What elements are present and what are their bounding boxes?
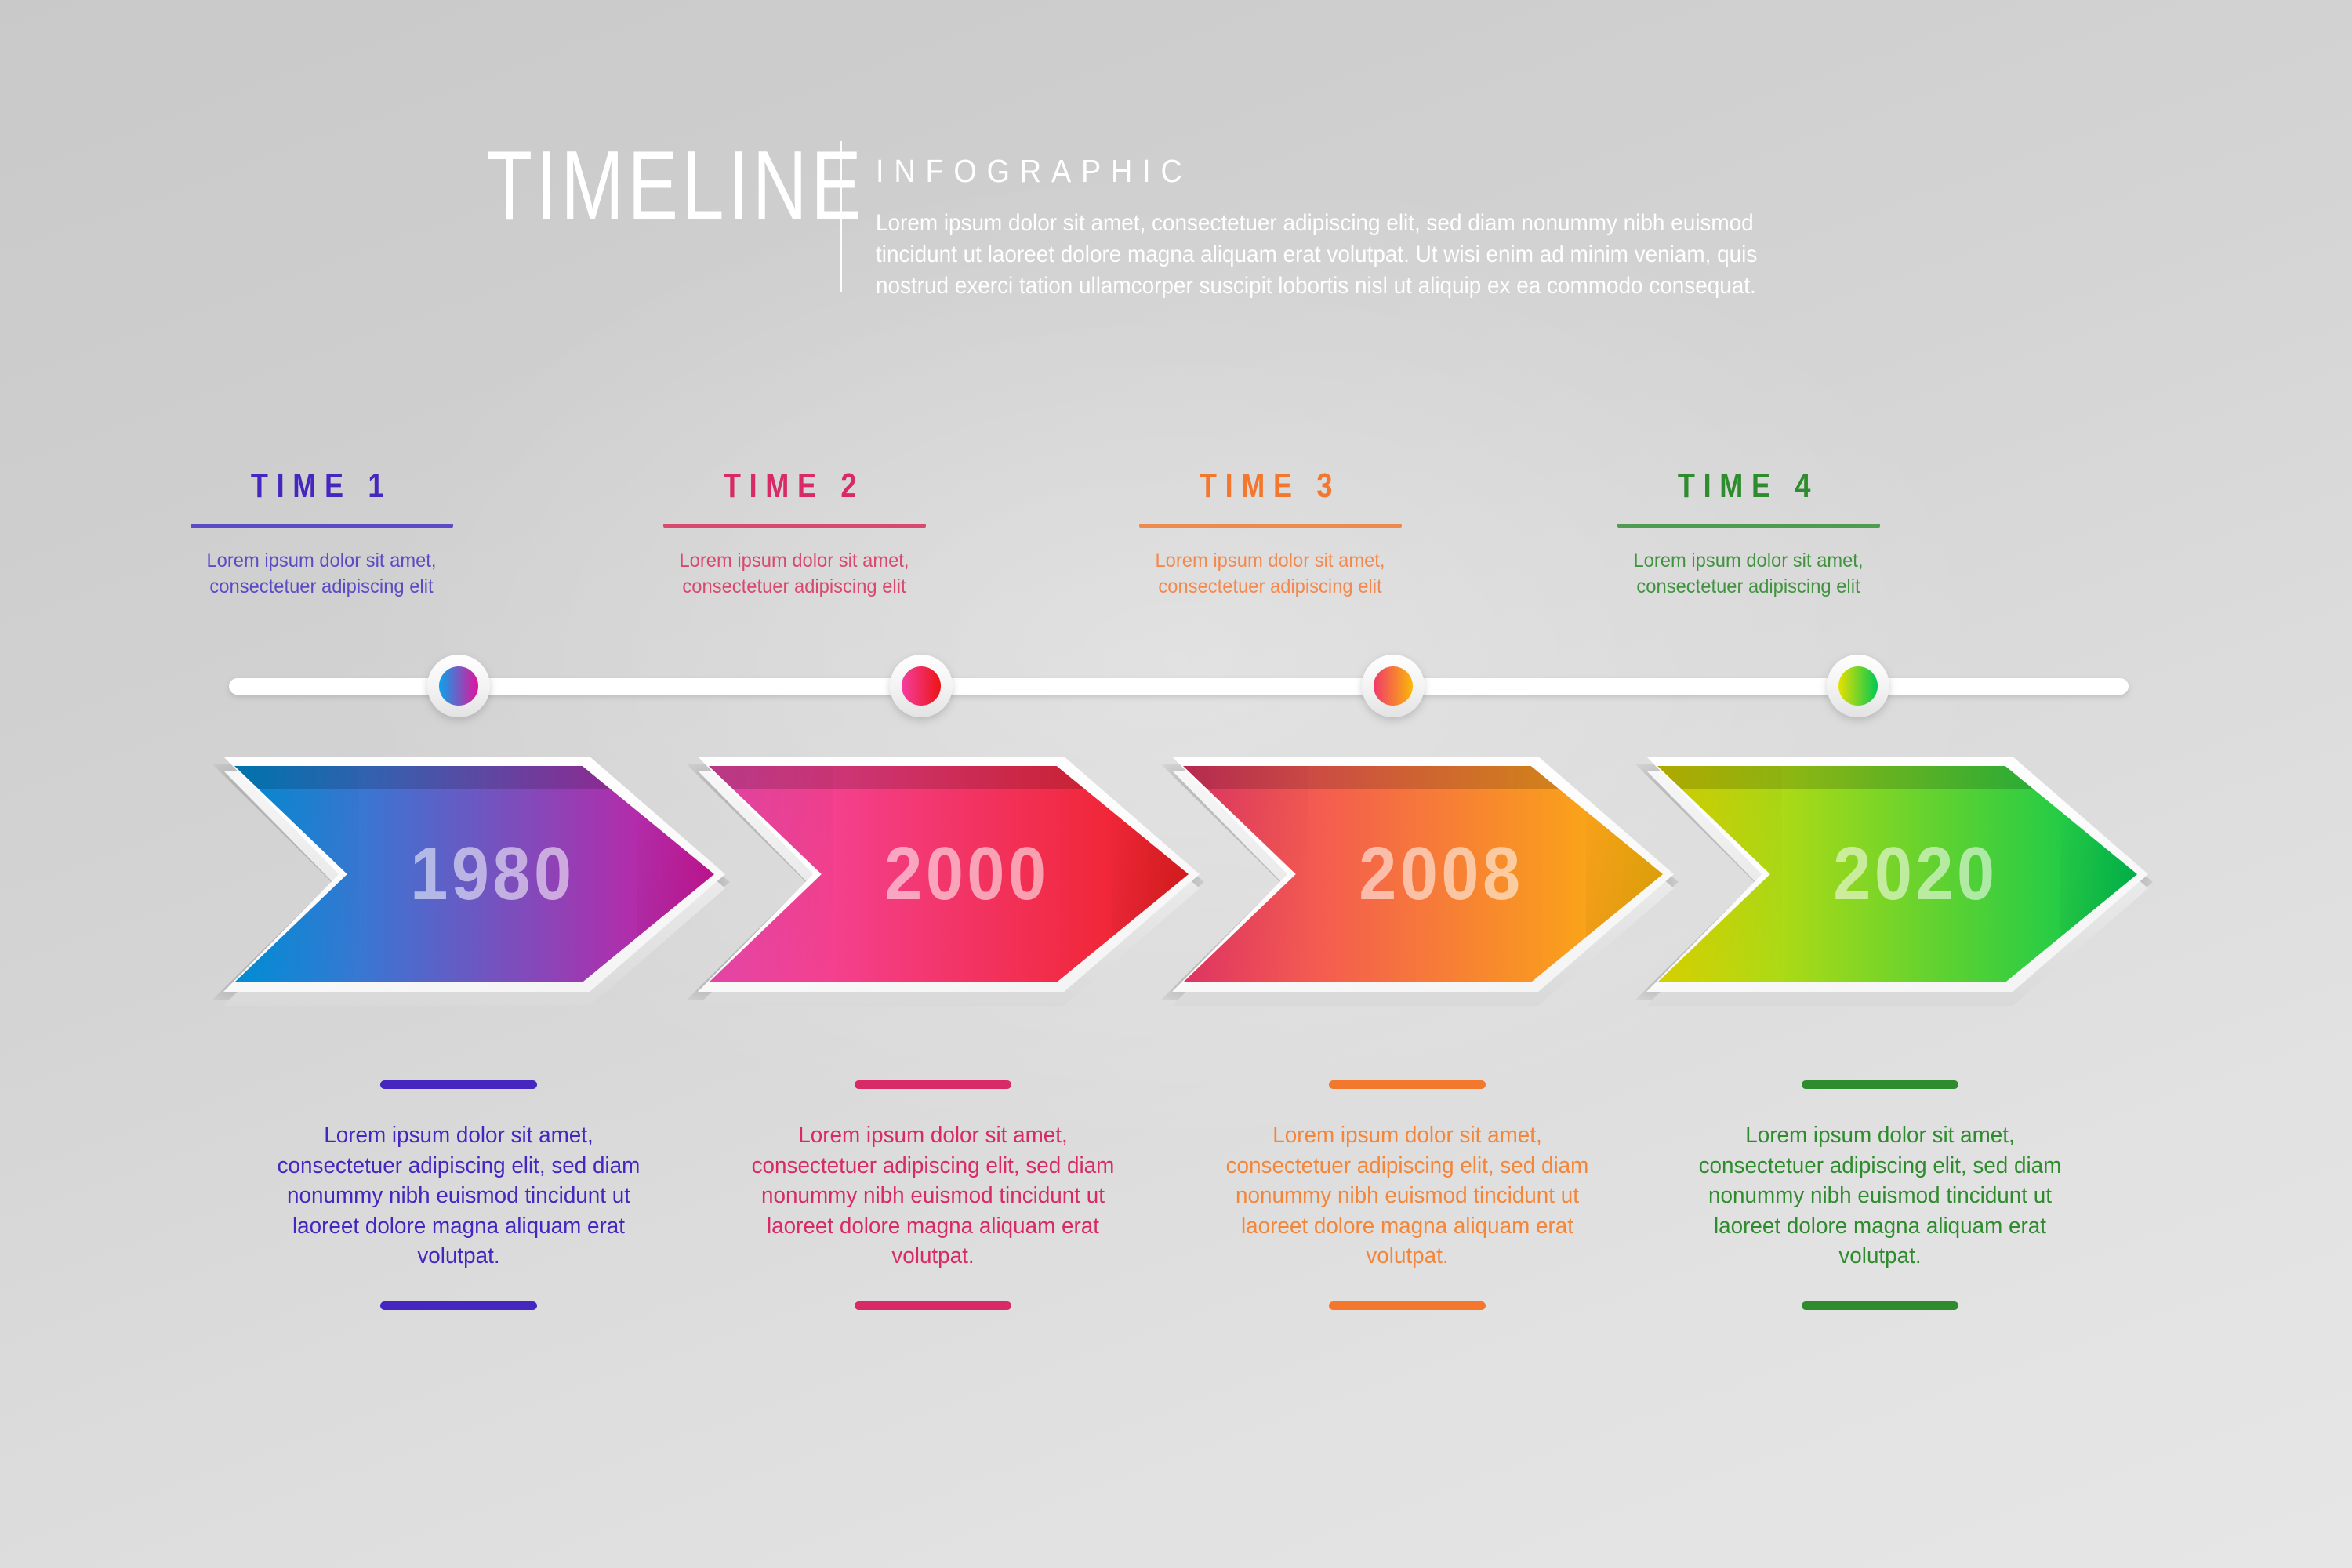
time-heading-rule	[191, 524, 453, 528]
description-text: Lorem ipsum dolor sit amet, consectetuer…	[745, 1120, 1121, 1272]
arrow-banner-3[interactable]: 2008	[1172, 757, 1674, 992]
title-divider	[840, 141, 842, 292]
timeline-dot-4[interactable]	[1827, 655, 1889, 717]
time-subtext: Lorem ipsum dolor sit amet, consectetuer…	[187, 548, 456, 600]
description-bar-top	[1329, 1080, 1486, 1089]
time-subtext: Lorem ipsum dolor sit amet, consectetuer…	[1136, 548, 1404, 600]
infographic-canvas: TIMELINE INFOGRAPHIC Lorem ipsum dolor s…	[0, 0, 2352, 1568]
description-column-3: Lorem ipsum dolor sit amet, consectetuer…	[1211, 1080, 1603, 1310]
arrow-inner-top-rail	[234, 766, 714, 789]
timeline-dot-2[interactable]	[890, 655, 953, 717]
time-heading: TIME 2	[678, 469, 909, 503]
time-heading-rule	[663, 524, 926, 528]
page-title: TIMELINE	[486, 137, 866, 234]
time-heading-rule	[1617, 524, 1880, 528]
time-column-4: TIME 4 Lorem ipsum dolor sit amet, conse…	[1607, 469, 1889, 600]
arrow-banner-1[interactable]: 1980	[223, 757, 725, 992]
header: TIMELINE INFOGRAPHIC Lorem ipsum dolor s…	[486, 145, 1897, 302]
description-text: Lorem ipsum dolor sit amet, consectetuer…	[1219, 1120, 1595, 1272]
description-text: Lorem ipsum dolor sit amet, consectetuer…	[270, 1120, 647, 1272]
description-bar-bottom	[1802, 1301, 1958, 1310]
time-subtext: Lorem ipsum dolor sit amet, consectetuer…	[1614, 548, 1882, 600]
timeline-dot-fill	[1374, 666, 1413, 706]
page-subtitle: INFOGRAPHIC	[876, 153, 1192, 190]
description-bar-top	[1802, 1080, 1958, 1089]
arrow-banner-row: 1980 2000 2008	[0, 757, 2352, 1015]
time-column-1: TIME 1 Lorem ipsum dolor sit amet, conse…	[180, 469, 463, 600]
description-bar-bottom	[855, 1301, 1011, 1310]
timeline-dot-fill	[902, 666, 941, 706]
timeline-dot-1[interactable]	[427, 655, 490, 717]
description-column-1: Lorem ipsum dolor sit amet, consectetuer…	[263, 1080, 655, 1310]
timeline-dot-fill	[439, 666, 478, 706]
description-column-4: Lorem ipsum dolor sit amet, consectetuer…	[1684, 1080, 2076, 1310]
time-subtext: Lorem ipsum dolor sit amet, consectetuer…	[660, 548, 928, 600]
description-bar-bottom	[1329, 1301, 1486, 1310]
time-column-2: TIME 2 Lorem ipsum dolor sit amet, conse…	[653, 469, 935, 600]
description-bar-top	[380, 1080, 537, 1089]
arrow-inner-top-rail	[1657, 766, 2137, 789]
arrow-banner-2[interactable]: 2000	[698, 757, 1200, 992]
description-column-2: Lorem ipsum dolor sit amet, consectetuer…	[737, 1080, 1129, 1310]
arrow-banner-4[interactable]: 2020	[1646, 757, 2148, 992]
timeline-dot-3[interactable]	[1362, 655, 1425, 717]
time-heading: TIME 1	[205, 469, 437, 503]
time-heading: TIME 3	[1154, 469, 1385, 503]
time-heading-rule	[1139, 524, 1402, 528]
timeline-dot-fill	[1838, 666, 1878, 706]
description-bar-bottom	[380, 1301, 537, 1310]
time-column-3: TIME 3 Lorem ipsum dolor sit amet, conse…	[1129, 469, 1411, 600]
arrow-inner-top-rail	[1183, 766, 1663, 789]
description-text: Lorem ipsum dolor sit amet, consectetuer…	[1692, 1120, 2068, 1272]
arrow-inner-top-rail	[709, 766, 1189, 789]
header-lead-paragraph: Lorem ipsum dolor sit amet, consectetuer…	[876, 208, 1780, 302]
time-heading: TIME 4	[1632, 469, 1864, 503]
description-bar-top	[855, 1080, 1011, 1089]
